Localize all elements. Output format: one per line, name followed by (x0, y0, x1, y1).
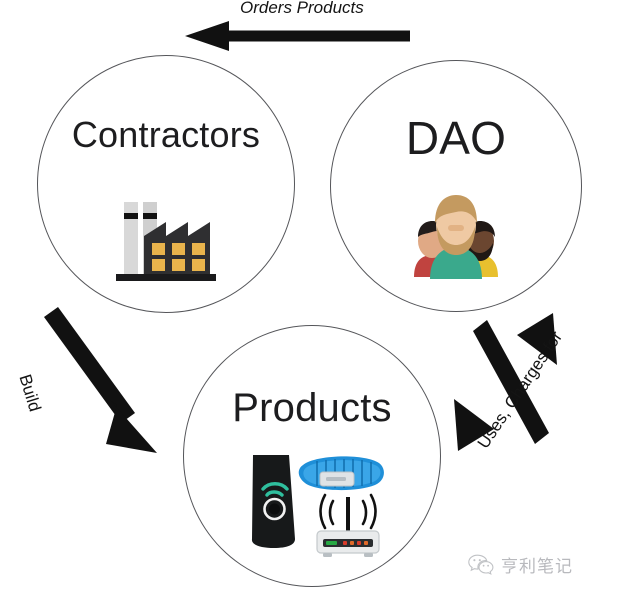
node-products-label: Products (184, 386, 440, 431)
edge-build-arrow (35, 305, 175, 460)
watermark: 亨利笔记 (468, 552, 573, 577)
people-group-icon (404, 189, 508, 279)
node-products[interactable]: Products (183, 325, 441, 587)
node-contractors-label: Contractors (38, 114, 294, 156)
node-dao[interactable]: DAO (330, 60, 582, 312)
diagram-canvas: Orders Products Build Uses, Charges for … (0, 0, 628, 600)
iot-devices-icon (237, 451, 387, 563)
node-dao-label: DAO (331, 111, 581, 165)
edge-label-orders-products: Orders Products (240, 0, 364, 18)
factory-icon (110, 196, 222, 288)
wechat-icon (468, 554, 494, 576)
node-contractors[interactable]: Contractors (37, 55, 295, 313)
edge-orders-products-arrow (185, 20, 410, 52)
watermark-text: 亨利笔记 (501, 552, 573, 577)
